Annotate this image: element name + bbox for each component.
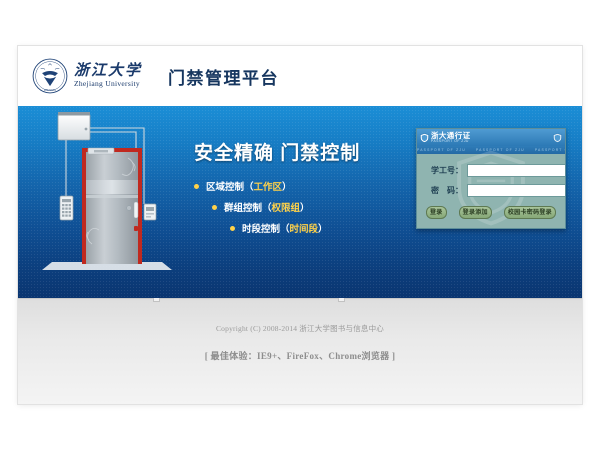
bullet-icon xyxy=(230,226,235,231)
userid-label: 学工号： xyxy=(425,165,467,176)
university-name-en: Zhejiang University xyxy=(74,79,142,88)
password-field-row: 密 码： xyxy=(425,184,557,197)
page-title: 门禁管理平台 xyxy=(168,64,279,89)
feature-tail: ） xyxy=(282,179,292,193)
access-control-door-illustration xyxy=(32,108,182,288)
footer-tab-right xyxy=(338,298,345,302)
login-panel-body: 学工号： 密 码： 登录 登录添加 校园卡密码登录 xyxy=(417,154,565,228)
panel-ticker-strip: PASSPORT OF ZJU PASSPORT OF ZJU PASSPORT… xyxy=(417,146,565,154)
hero-copy: 安全精确 门禁控制 区域控制（工作区） 群组控制（权限组） 时段控制（时间段） xyxy=(194,138,424,251)
footer-tab-left xyxy=(153,298,160,302)
login-button[interactable]: 登录 xyxy=(426,206,447,219)
feature-accent: 工作区 xyxy=(254,179,283,193)
site-footer: Copyright (C) 2008-2014 浙江大学图书与信息中心 [ 最佳… xyxy=(18,298,582,404)
campus-card-password-login-button[interactable]: 校园卡密码登录 xyxy=(504,206,556,219)
hero-headline: 安全精确 门禁控制 xyxy=(194,138,424,165)
zju-seal-icon: ZHEJIANG xyxy=(32,58,68,94)
panel-brand: 浙大通行证 PASSPORT OF ZJU xyxy=(420,132,471,143)
university-logo-lockup[interactable]: ZHEJIANG 浙江大学 Zhejiang University xyxy=(32,58,142,94)
password-label: 密 码： xyxy=(425,185,467,196)
feature-accent: 权限组 xyxy=(272,200,301,214)
bullet-icon xyxy=(194,184,199,189)
university-name-cn: 浙江大学 xyxy=(74,64,142,80)
svg-text:ZHEJIANG: ZHEJIANG xyxy=(44,89,56,92)
feature-text: 群组控制（ xyxy=(224,200,272,214)
ticker-text: PASSPORT OF ZJU xyxy=(476,148,535,152)
feature-text: 时段控制（ xyxy=(242,221,290,235)
shield-icon-secondary xyxy=(553,133,562,143)
hero-feature-list: 区域控制（工作区） 群组控制（权限组） 时段控制（时间段） xyxy=(194,179,424,235)
site-header: ZHEJIANG 浙江大学 Zhejiang University 门禁管理平台 xyxy=(18,46,582,106)
hero-feature-item: 群组控制（权限组） xyxy=(194,200,424,214)
userid-input[interactable] xyxy=(467,164,566,177)
feature-accent: 时间段 xyxy=(290,221,319,235)
login-add-button[interactable]: 登录添加 xyxy=(459,206,492,219)
panel-title-en: PASSPORT OF ZJU xyxy=(431,140,469,143)
footer-browser-note: [ 最佳体验：IE9+、FireFox、Chrome浏览器 ] xyxy=(18,334,582,362)
hero-feature-item: 区域控制（工作区） xyxy=(194,179,424,193)
password-input[interactable] xyxy=(467,184,566,197)
footer-copyright: Copyright (C) 2008-2014 浙江大学图书与信息中心 xyxy=(18,299,582,334)
shield-icon xyxy=(420,133,429,143)
bullet-icon xyxy=(212,205,217,210)
page-frame: ZHEJIANG 浙江大学 Zhejiang University 门禁管理平台 xyxy=(18,46,582,404)
login-panel: 浙大通行证 PASSPORT OF ZJU PASSPORT OF ZJU PA… xyxy=(416,128,566,229)
university-wordmark: 浙江大学 Zhejiang University xyxy=(74,64,142,89)
panel-brand-text: 浙大通行证 PASSPORT OF ZJU xyxy=(431,132,471,143)
hero-feature-item: 时段控制（时间段） xyxy=(194,221,424,235)
feature-text: 区域控制（ xyxy=(206,179,254,193)
login-panel-titlebar: 浙大通行证 PASSPORT OF ZJU xyxy=(417,129,565,146)
userid-field-row: 学工号： xyxy=(425,164,557,177)
feature-tail: ） xyxy=(300,200,310,214)
login-button-row: 登录 登录添加 校园卡密码登录 xyxy=(425,206,557,219)
feature-tail: ） xyxy=(318,221,328,235)
ticker-text: PASSPORT OF ZJU xyxy=(417,148,476,152)
hero-banner: 安全精确 门禁控制 区域控制（工作区） 群组控制（权限组） 时段控制（时间段） xyxy=(18,106,582,298)
ticker-text: PASSPORT OF ZJU xyxy=(535,148,565,152)
